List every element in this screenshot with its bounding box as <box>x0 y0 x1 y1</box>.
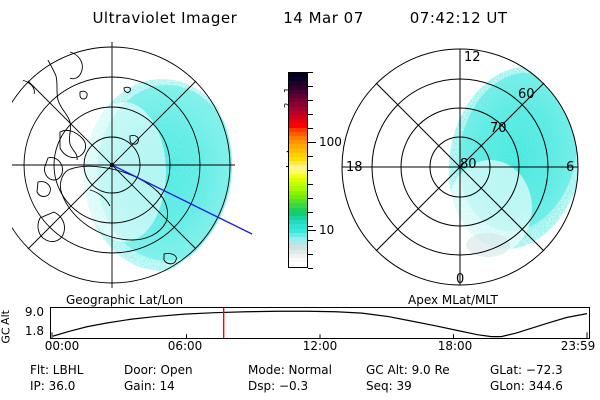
aurora-emission-geographic <box>82 79 240 271</box>
colorbar-minor-tick <box>308 184 313 185</box>
altitude-curve <box>53 311 587 336</box>
observation-time: 07:42:12 UT <box>410 9 508 27</box>
aurora-emission-apex <box>432 54 588 261</box>
mlat-label-80: 80 <box>460 157 477 172</box>
status-field: Door: Open <box>124 363 193 377</box>
altitude-axis-name-line2: Alt <box>0 310 11 325</box>
status-field: GLon: 344.6 <box>490 379 563 393</box>
header-bar: Ultraviolet Imager 14 Mar 07 07:42:12 UT <box>0 6 600 30</box>
geographic-panel-title: Geographic Lat/Lon <box>66 293 183 307</box>
colorbar-gradient <box>288 72 308 268</box>
image-panels: photon cm-2s-1 10010 <box>0 40 600 295</box>
status-field: Gain: 14 <box>124 379 175 393</box>
colorbar-minor-tick <box>308 72 313 73</box>
mlat-label-70: 70 <box>490 121 507 136</box>
mlt-label-12: 12 <box>464 50 481 65</box>
colorbar-minor-tick <box>308 156 313 157</box>
observation-date: 14 Mar 07 <box>283 9 364 27</box>
time-axis-tick-label: 12:00 <box>303 339 338 353</box>
status-field: Seq: 39 <box>366 379 412 393</box>
colorbar-minor-tick <box>308 254 313 255</box>
colorbar-major-tick <box>308 230 316 231</box>
colorbar-major-tick <box>308 142 316 143</box>
time-axis-tick-label: 23:59 <box>561 339 596 353</box>
altitude-profile-svg <box>51 308 589 338</box>
status-field: Dsp: −0.3 <box>248 379 308 393</box>
status-field: GLat: −72.3 <box>490 363 563 377</box>
apex-magnetic-panel[interactable]: 60 70 80 12 6 0 18 <box>338 40 588 290</box>
colorbar-minor-tick <box>308 240 313 241</box>
orbit-altitude-section: Geographic Lat/Lon Apex MLat/MLT Alt GC … <box>0 293 600 355</box>
colorbar-minor-tick <box>308 114 313 115</box>
colorbar-minor-tick <box>308 226 313 227</box>
colorbar-minor-tick <box>308 212 313 213</box>
status-row-primary: Flt: LBHLDoor: OpenMode: NormalGC Alt: 9… <box>0 363 600 379</box>
status-footer: Flt: LBHLDoor: OpenMode: NormalGC Alt: 9… <box>0 363 600 397</box>
colorbar-minor-tick <box>308 268 313 269</box>
colorbar-tick-marks: 10010 <box>308 72 334 268</box>
instrument-title: Ultraviolet Imager <box>92 9 237 27</box>
mlt-label-18: 18 <box>346 160 363 175</box>
time-axis-tick-label: 06:00 <box>168 339 203 353</box>
apex-dial-svg: 60 70 80 12 6 0 18 <box>338 40 588 290</box>
status-field: Mode: Normal <box>248 363 332 377</box>
colorbar-minor-tick <box>308 170 313 171</box>
colorbar-minor-tick <box>308 128 313 129</box>
altitude-axis-name: Alt GC <box>2 306 18 342</box>
time-axis-labels: 00:0006:0012:0018:0023:59 <box>50 339 590 355</box>
colorbar-minor-tick <box>308 86 313 87</box>
altitude-profile-plot[interactable] <box>50 307 590 339</box>
mlt-label-6: 6 <box>566 160 574 175</box>
time-axis-tick-label: 00:00 <box>45 339 80 353</box>
colorbar-minor-tick <box>308 100 313 101</box>
time-axis-tick-label: 18:00 <box>438 339 473 353</box>
status-field: GC Alt: 9.0 Re <box>366 363 450 377</box>
geographic-map-svg <box>12 40 262 290</box>
status-field: Flt: LBHL <box>30 363 83 377</box>
colorbar-tick-label: 10 <box>319 223 334 237</box>
altitude-tick-high: 9.0 <box>18 305 44 319</box>
colorbar[interactable]: photon cm-2s-1 10010 <box>272 72 334 277</box>
apex-panel-title: Apex MLat/MLT <box>408 293 498 307</box>
mlat-label-60: 60 <box>518 87 535 102</box>
altitude-tick-low: 1.8 <box>18 324 44 338</box>
altitude-axis-name-line1: GC <box>1 327 12 343</box>
mlt-label-0: 0 <box>456 272 464 287</box>
colorbar-minor-tick <box>308 198 313 199</box>
status-row-secondary: IP: 36.0Gain: 14Dsp: −0.3Seq: 39GLon: 34… <box>0 379 600 395</box>
colorbar-segment <box>289 262 307 266</box>
pole-marker <box>110 163 114 167</box>
geographic-map-panel[interactable] <box>12 40 262 290</box>
status-field: IP: 36.0 <box>30 379 75 393</box>
